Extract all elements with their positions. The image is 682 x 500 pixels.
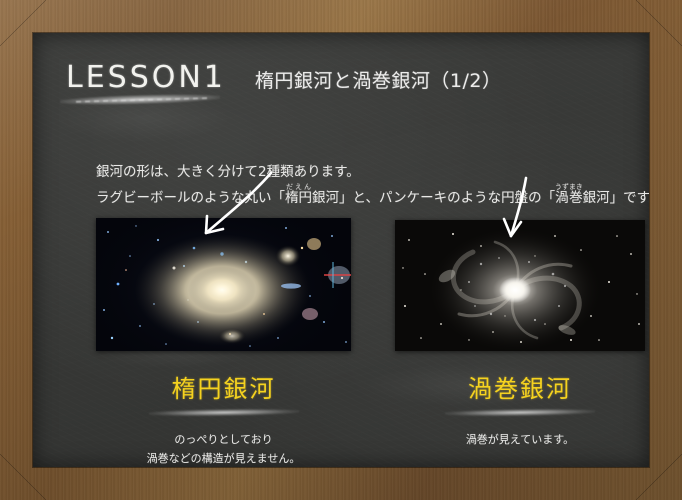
spiral-desc-line-1: 渦巻が見えています。 [395,430,645,449]
chalkboard: LESSON1 楕円銀河と渦巻銀河（1/2） 銀河の形は、大きく分けて2種類あり… [33,33,649,467]
slide-root: LESSON1 楕円銀河と渦巻銀河（1/2） 銀河の形は、大きく分けて2種類あり… [0,0,682,500]
ruby-daen-base: 楕円 [285,190,312,206]
spiral-caption-underline-chalk [445,408,595,417]
ruby-uzumaki-reading: うずまき [555,183,583,191]
body-line-2: ラグビーボールのような丸い「楕円だえん銀河」と、パンケーキのような円盤の「渦巻う… [96,183,649,209]
page-title: 楕円銀河と渦巻銀河（1/2） [255,72,502,91]
elliptical-desc-line-2: 渦巻などの構造が見えません。 [96,449,351,467]
elliptical-caption-underline-chalk [148,408,298,417]
lesson-tag: LESSON1 [66,63,226,93]
elliptical-galaxy-caption-block: 楕円銀河 のっぺりとしており 渦巻などの構造が見えません。 [96,377,351,467]
body-line-1: 銀河の形は、大きく分けて2種類あります。 [96,161,649,183]
elliptical-desc-line-1: のっぺりとしており [96,430,351,449]
body-paragraph: 銀河の形は、大きく分けて2種類あります。 ラグビーボールのような丸い「楕円だえん… [96,161,649,209]
spiral-galaxy-image [395,220,645,351]
headline-row: LESSON1 楕円銀河と渦巻銀河（1/2） [66,63,502,93]
elliptical-galaxy-image [96,218,351,351]
body-line-2-part-a: ラグビーボールのような丸い「 [96,190,285,206]
ruby-uzumaki: 渦巻うずまき [555,190,583,206]
body-line-2-part-b: 銀河」と、パンケーキのような円盤の「 [312,190,555,206]
elliptical-galaxy-description: のっぺりとしており 渦巻などの構造が見えません。 [96,430,351,467]
elliptical-galaxy-photo [96,218,351,351]
ruby-daen-reading: だえん [285,183,312,191]
spiral-galaxy-caption-block: 渦巻銀河 渦巻が見えています。 [395,377,645,449]
elliptical-galaxy-caption: 楕円銀河 [96,377,351,401]
spiral-galaxy-description: 渦巻が見えています。 [395,430,645,449]
spiral-galaxy-caption: 渦巻銀河 [395,377,645,401]
ruby-uzumaki-base: 渦巻 [555,190,583,206]
ruby-daen: 楕円だえん [285,190,312,206]
lesson-tag-label: LESSON1 [66,60,226,95]
spiral-galaxy-photo [395,220,645,351]
body-line-2-part-c: 銀河」です。 [583,190,649,206]
